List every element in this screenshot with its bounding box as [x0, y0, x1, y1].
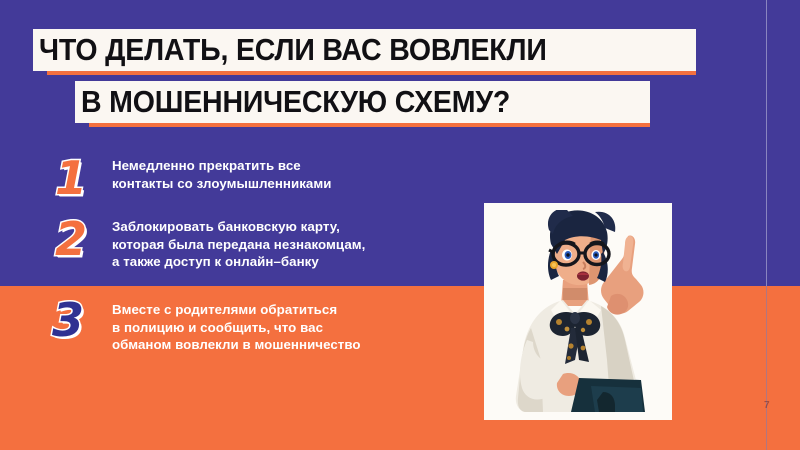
- list-item-line: а также доступ к онлайн–банку: [112, 253, 365, 271]
- right-vertical-rule-lower: [766, 286, 767, 450]
- list-item-text: Вместе с родителями обратиться в полицию…: [112, 301, 361, 354]
- slide-canvas: ЧТО ДЕЛАТЬ, ЕСЛИ ВАС ВОВЛЕКЛИ В МОШЕННИЧ…: [0, 0, 800, 450]
- list-item-line: в полицию и сообщить, что вас: [112, 319, 361, 337]
- list-item-number: 3: [52, 297, 84, 343]
- page-number: 7: [756, 400, 778, 411]
- illustration-frame: [484, 203, 672, 420]
- list-item-number: 1: [55, 155, 87, 201]
- list-item-line: обманом вовлекли в мошенничество: [112, 336, 361, 354]
- list-item-text: Немедленно прекратить все контакты со зл…: [112, 157, 331, 192]
- list-item-line: Немедленно прекратить все: [112, 157, 331, 175]
- list-item-line: Заблокировать банковскую карту,: [112, 218, 365, 236]
- list-item-text: Заблокировать банковскую карту, которая …: [112, 218, 365, 271]
- list-item-number: 2: [55, 216, 87, 262]
- list-item-line: которая была передана незнакомцам,: [112, 236, 365, 254]
- list-item-line: Вместе с родителями обратиться: [112, 301, 361, 319]
- list-item-line: контакты со злоумышленниками: [112, 175, 331, 193]
- illustration-image: [491, 210, 665, 413]
- girl-pointing-up-illustration: [491, 210, 665, 413]
- numbered-list: 1 Немедленно прекратить все контакты со …: [0, 0, 470, 450]
